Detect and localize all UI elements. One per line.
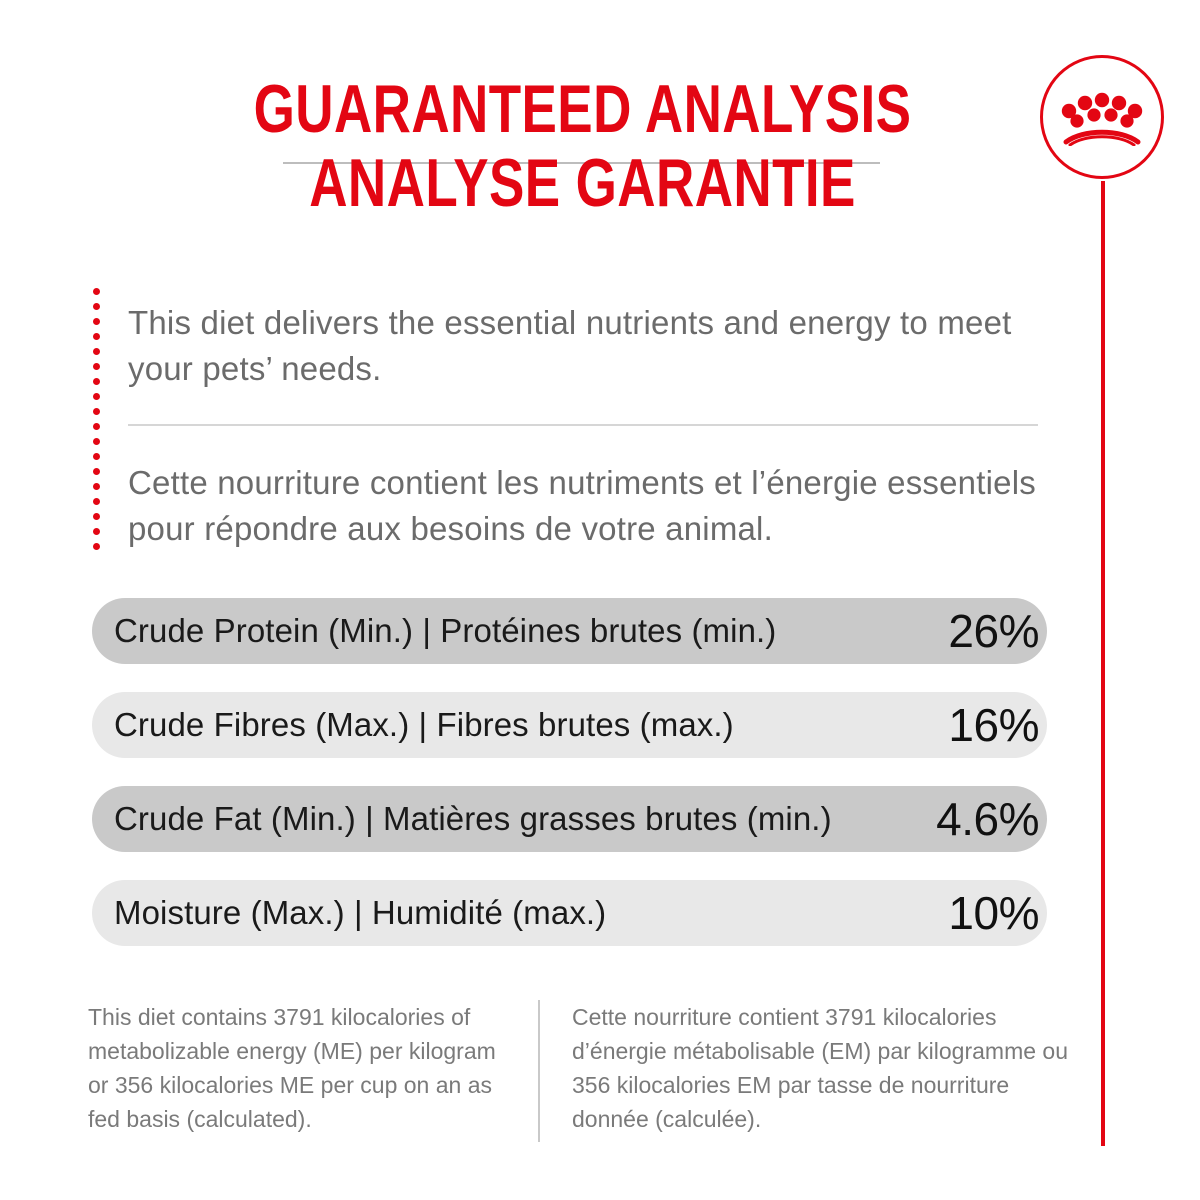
nutrient-list: Crude Protein (Min.) | Protéines brutes … xyxy=(92,598,1047,974)
nutrient-label: Crude Fat (Min.) | Matières grasses brut… xyxy=(114,802,832,836)
rail-dot xyxy=(93,483,100,490)
nutrient-row-crude-fat: Crude Fat (Min.) | Matières grasses brut… xyxy=(92,786,1047,852)
nutrient-label: Moisture (Max.) | Humidité (max.) xyxy=(114,896,606,930)
nutrient-row-crude-fibres: Crude Fibres (Max.) | Fibres brutes (max… xyxy=(92,692,1047,758)
nutrient-label: Crude Fibres (Max.) | Fibres brutes (max… xyxy=(114,708,734,742)
rail-dot xyxy=(93,468,100,475)
page-title-fr: ANALYSE GARANTIE xyxy=(128,146,1037,220)
footer-divider xyxy=(538,1000,540,1142)
rail-dot xyxy=(93,363,100,370)
dotted-accent-rail xyxy=(93,288,101,546)
rail-dot xyxy=(93,513,100,520)
rail-dot xyxy=(93,348,100,355)
logo-stem-line xyxy=(1101,181,1105,1146)
page-title-en: GUARANTEED ANALYSIS xyxy=(128,72,1037,146)
rail-dot xyxy=(93,333,100,340)
nutrient-row-crude-protein: Crude Protein (Min.) | Protéines brutes … xyxy=(92,598,1047,664)
rail-dot xyxy=(93,393,100,400)
nutrient-value: 10% xyxy=(948,890,1039,936)
rail-dot xyxy=(93,423,100,430)
intro-text-en: This diet delivers the essential nutrien… xyxy=(128,300,1038,392)
page-title: GUARANTEED ANALYSIS ANALYSE GARANTIE xyxy=(0,72,1165,220)
rail-dot xyxy=(93,543,100,550)
nutrient-value: 4.6% xyxy=(936,796,1039,842)
rail-dot xyxy=(93,438,100,445)
rail-dot xyxy=(93,528,100,535)
intro-divider xyxy=(128,424,1038,426)
rail-dot xyxy=(93,303,100,310)
footer-block: This diet contains 3791 kilocalories of … xyxy=(88,1000,1098,1142)
intro-block: This diet delivers the essential nutrien… xyxy=(128,300,1038,552)
rail-dot xyxy=(93,288,100,295)
rail-dot xyxy=(93,453,100,460)
nutrient-value: 26% xyxy=(948,608,1039,654)
rail-dot xyxy=(93,498,100,505)
rail-dot xyxy=(93,408,100,415)
footer-text-en: This diet contains 3791 kilocalories of … xyxy=(88,1000,538,1142)
intro-text-fr: Cette nourriture contient les nutriments… xyxy=(128,460,1038,552)
nutrient-value: 16% xyxy=(948,702,1039,748)
nutrient-label: Crude Protein (Min.) | Protéines brutes … xyxy=(114,614,776,648)
guaranteed-analysis-panel: GUARANTEED ANALYSIS ANALYSE GARANTIE Thi… xyxy=(0,0,1200,1200)
nutrient-row-moisture: Moisture (Max.) | Humidité (max.) 10% xyxy=(92,880,1047,946)
rail-dot xyxy=(93,318,100,325)
rail-dot xyxy=(93,378,100,385)
footer-text-fr: Cette nourriture contient 3791 kilocalor… xyxy=(572,1000,1092,1142)
